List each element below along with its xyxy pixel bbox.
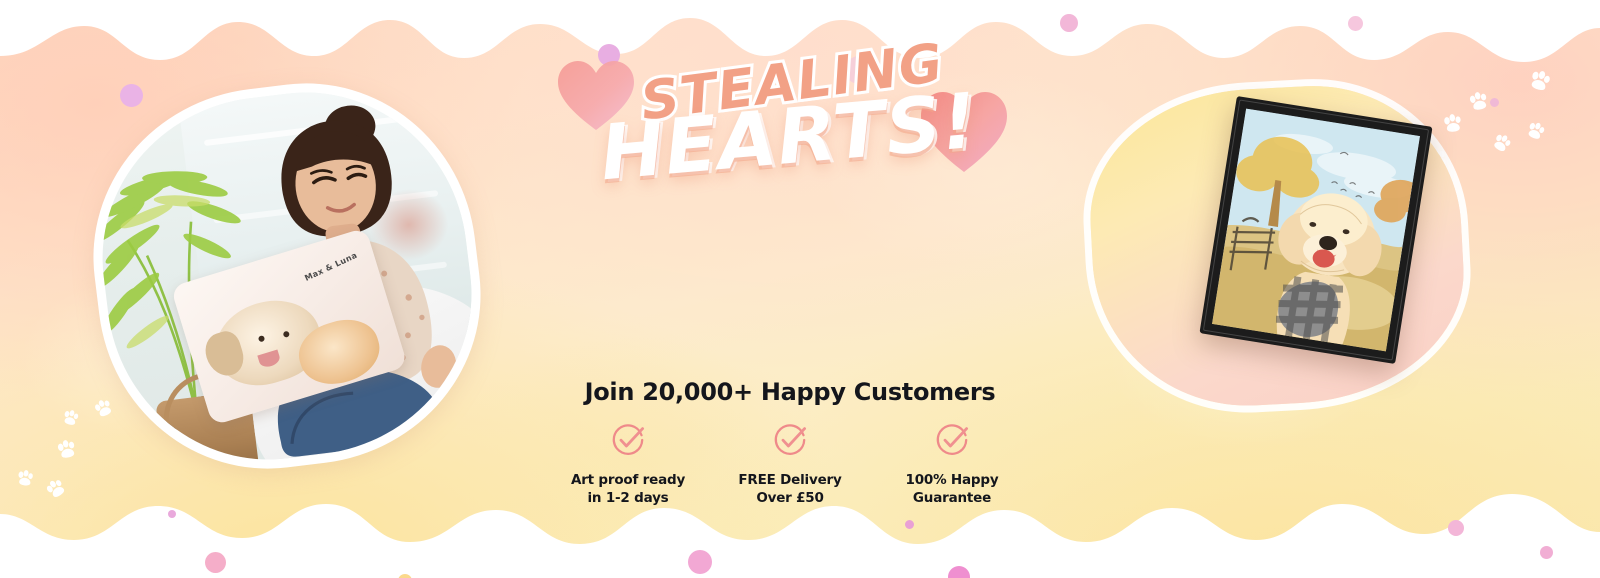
confetti-dot — [688, 550, 712, 574]
confetti-dot — [398, 574, 412, 578]
portrait-canvas — [1212, 109, 1420, 352]
check-circle-icon — [893, 422, 1011, 458]
paw-print-icon — [13, 467, 37, 491]
trust-badge-label: Art proof ready in 1-2 days — [569, 471, 687, 507]
trust-badge: Art proof ready in 1-2 days — [569, 422, 687, 507]
trust-badge: FREE Delivery Over £50 — [731, 422, 849, 507]
cushion-pet-names: Max & Luna — [303, 251, 358, 283]
confetti-dot — [1490, 98, 1499, 107]
framed-pet-portrait — [1199, 96, 1432, 364]
confetti-dot — [1448, 520, 1464, 536]
paw-print-icon — [52, 436, 80, 464]
trust-section: Join 20,000+ Happy Customers Art proof r… — [560, 378, 1020, 507]
confetti-dot — [948, 566, 970, 578]
banner-title: STEALING HEARTS! — [548, 46, 1028, 196]
paw-print-icon — [1439, 111, 1465, 137]
confetti-dot — [1060, 14, 1078, 32]
confetti-dot — [1540, 546, 1553, 559]
paw-print-icon — [1521, 117, 1550, 146]
confetti-dot — [1348, 16, 1363, 31]
paw-print-icon — [88, 394, 117, 423]
confetti-dot — [168, 510, 176, 518]
confetti-dot — [205, 552, 226, 573]
paw-print-icon — [1486, 128, 1516, 158]
lifestyle-photo-cushion: Max & Luna — [74, 64, 499, 488]
trust-badge-label: FREE Delivery Over £50 — [731, 471, 849, 507]
trust-badge: 100% Happy Guarantee — [893, 422, 1011, 507]
confetti-dot — [120, 84, 143, 107]
paw-print-icon — [1523, 65, 1556, 98]
paw-print-icon — [58, 406, 82, 430]
customer-count-heading: Join 20,000+ Happy Customers — [560, 378, 1020, 406]
trust-badge-label: 100% Happy Guarantee — [893, 471, 1011, 507]
paw-print-icon — [40, 474, 72, 506]
confetti-dot — [905, 520, 914, 529]
paw-print-icon — [1464, 88, 1492, 116]
promo-banner: STEALING HEARTS! — [0, 0, 1600, 578]
trust-badge-list: Art proof ready in 1-2 days FREE Deliver… — [560, 422, 1020, 507]
check-circle-icon — [569, 422, 687, 458]
check-circle-icon — [731, 422, 849, 458]
